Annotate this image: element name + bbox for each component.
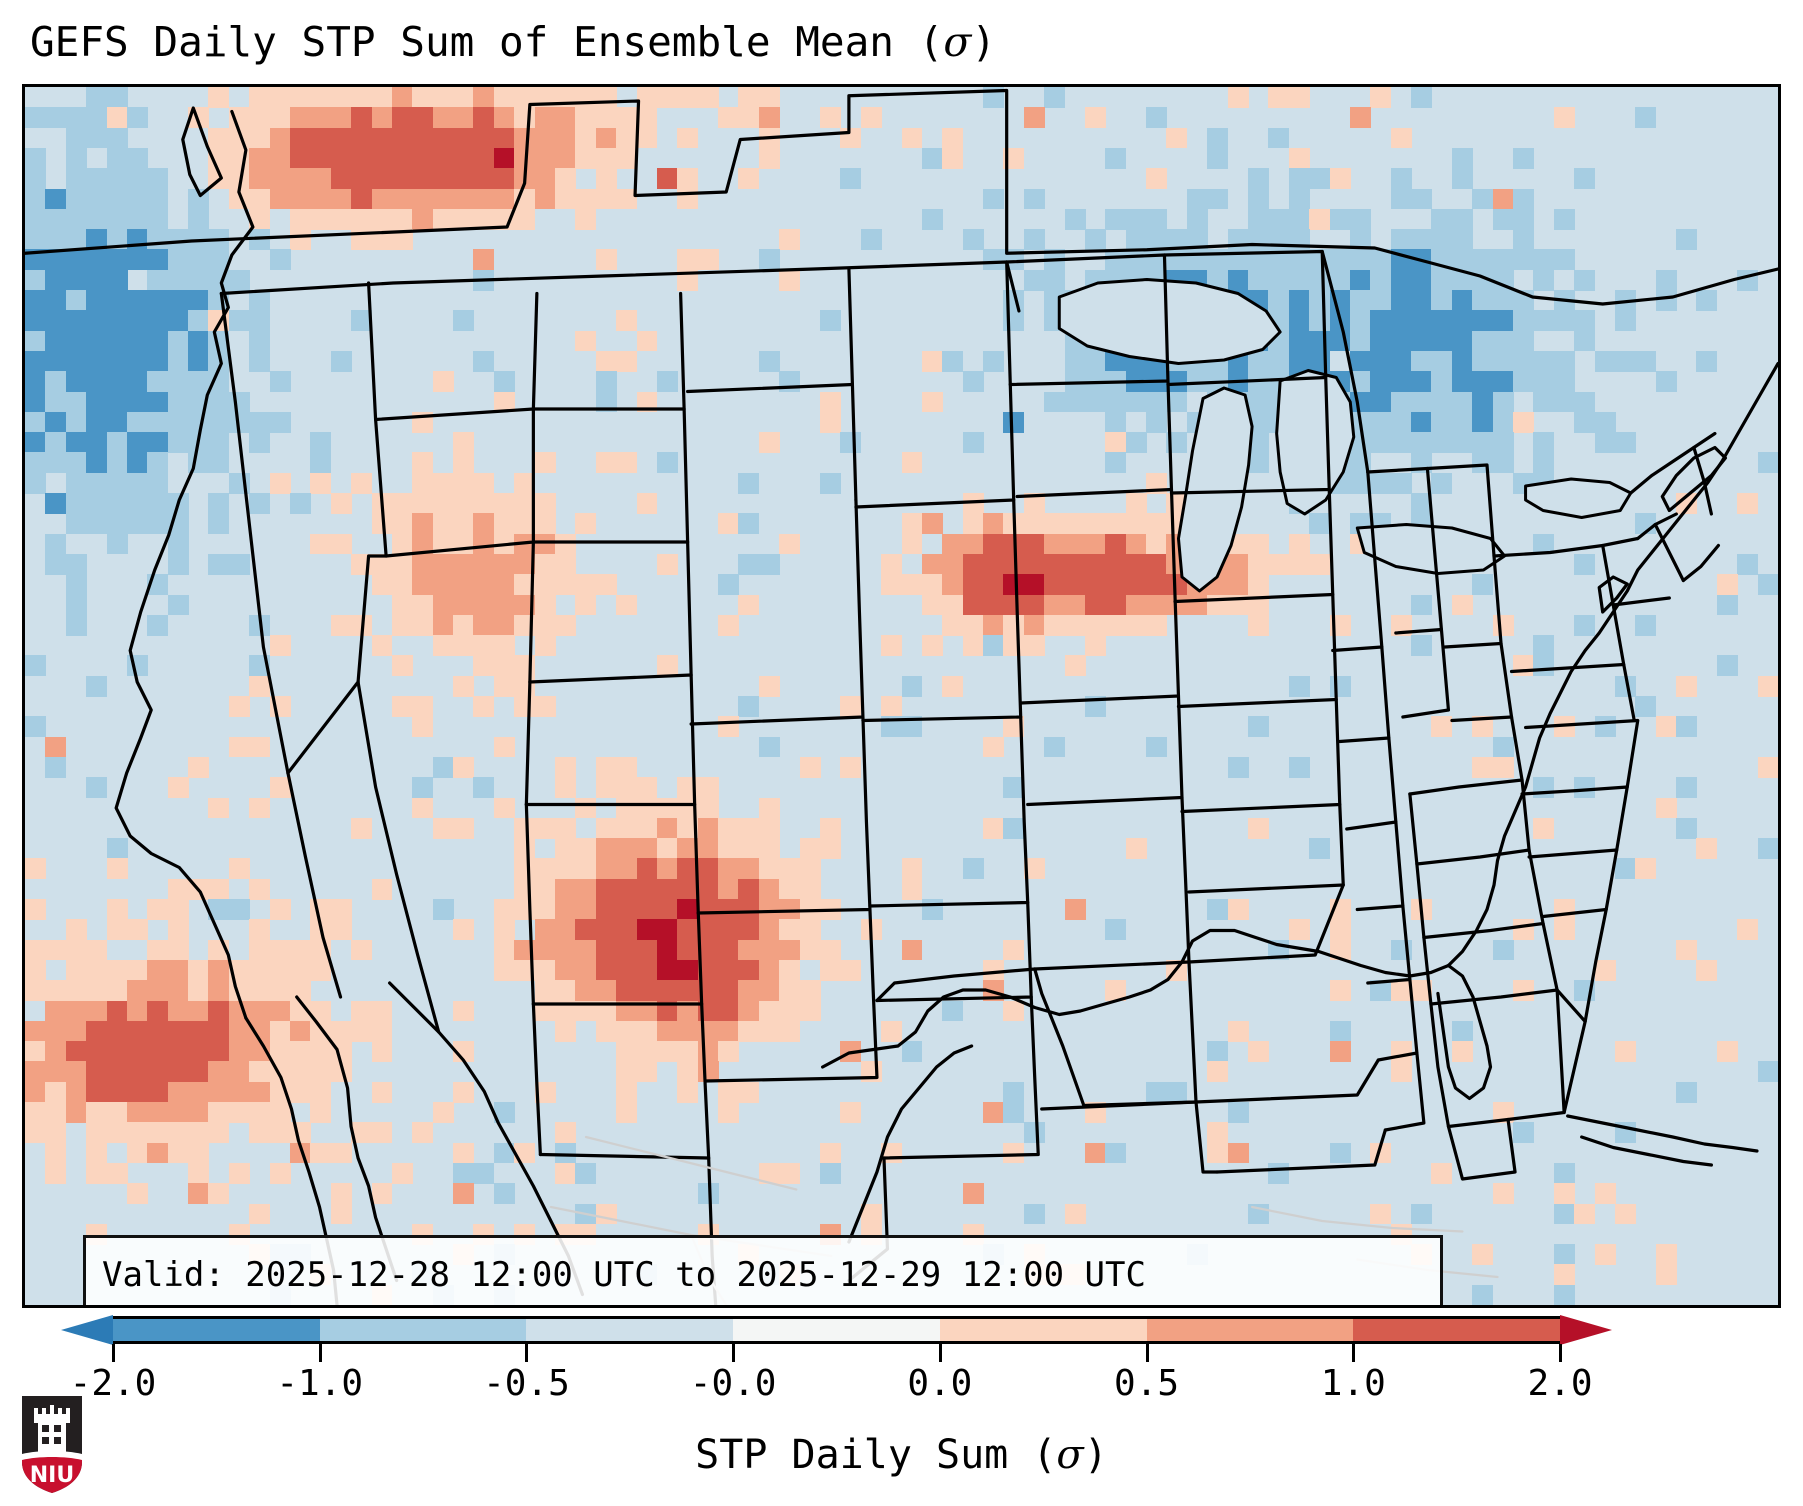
valid-line: Valid: 2025-12-28 12:00 UTC to 2025-12-2… xyxy=(102,1248,1424,1302)
map-panel[interactable]: Valid: 2025-12-28 12:00 UTC to 2025-12-2… xyxy=(22,84,1781,1308)
state-boundaries xyxy=(221,252,1718,1306)
niu-logo-text: NIU xyxy=(30,1463,74,1488)
colorbar-under-arrow xyxy=(61,1315,113,1345)
sigma-symbol-colorbar: σ xyxy=(1056,1432,1083,1478)
colorbar-tick-7 xyxy=(1559,1344,1562,1362)
colorbar-segment-4 xyxy=(940,1319,1147,1341)
colorbar-segment-5 xyxy=(1147,1319,1354,1341)
colorbar-tick-label-4: 0.0 xyxy=(907,1364,972,1404)
colorbar-segment-6 xyxy=(1353,1319,1560,1341)
colorbar-segment-0 xyxy=(113,1319,320,1341)
figure-root: GEFS Daily STP Sum of Ensemble Mean (σ) xyxy=(0,0,1803,1506)
title-text: GEFS Daily STP Sum of Ensemble Mean ( xyxy=(30,18,943,66)
colorbar-tick-1 xyxy=(319,1344,322,1362)
coastlines-and-borders xyxy=(25,91,1778,1306)
colorbar-over-arrow xyxy=(1560,1315,1612,1345)
colorbar-tick-label-6: 1.0 xyxy=(1321,1364,1386,1404)
colorbar-tick-5 xyxy=(1146,1344,1149,1362)
colorbar-tick-2 xyxy=(525,1344,528,1362)
great-lakes xyxy=(1059,280,1630,592)
colorbar-label-text: STP Daily Sum ( xyxy=(695,1432,1056,1478)
title-text-suffix: ) xyxy=(971,18,996,66)
colorbar-tick-label-3: -0.0 xyxy=(690,1364,777,1404)
annotation-box: Valid: 2025-12-28 12:00 UTC to 2025-12-2… xyxy=(83,1235,1443,1308)
colorbar-tick-3 xyxy=(732,1344,735,1362)
colorbar[interactable]: -2.0-1.0-0.5-0.00.00.51.02.0 xyxy=(0,1316,1803,1362)
map-clip xyxy=(25,87,1778,1305)
sigma-symbol: σ xyxy=(943,18,971,66)
colorbar-tick-label-2: -0.5 xyxy=(483,1364,570,1404)
colorbar-tick-0 xyxy=(112,1344,115,1362)
colorbar-segment-1 xyxy=(320,1319,527,1341)
colorbar-segment-3 xyxy=(733,1319,940,1341)
colorbar-tick-4 xyxy=(939,1344,942,1362)
colorbar-tick-label-7: 2.0 xyxy=(1527,1364,1592,1404)
colorbar-axis-label: STP Daily Sum (σ) xyxy=(0,1432,1803,1478)
colorbar-tick-label-1: -1.0 xyxy=(276,1364,363,1404)
colorbar-bar[interactable] xyxy=(113,1316,1560,1344)
page-title: GEFS Daily STP Sum of Ensemble Mean (σ) xyxy=(30,18,1770,66)
colorbar-tick-label-5: 0.5 xyxy=(1114,1364,1179,1404)
colorbar-tick-6 xyxy=(1352,1344,1355,1362)
niu-logo: NIU xyxy=(18,1392,86,1496)
colorbar-label-suffix: ) xyxy=(1084,1432,1108,1478)
run-line: Run: 2025-12-13 00:00 UTC xyxy=(102,1302,1424,1308)
colorbar-segment-2 xyxy=(526,1319,733,1341)
map-borders-overlay xyxy=(25,87,1778,1305)
